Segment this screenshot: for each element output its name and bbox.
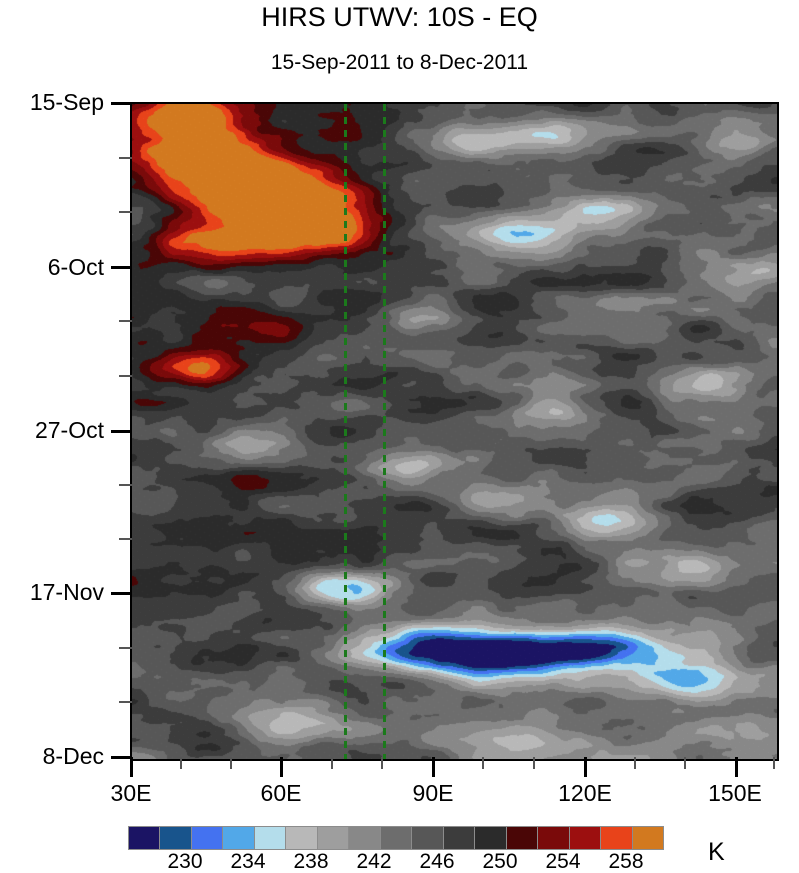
plot-area: [130, 102, 779, 761]
ytick-minor: [119, 538, 132, 540]
page-title: HIRS UTWV: 10S - EQ: [0, 0, 799, 34]
colorbar-swatch-8: [381, 827, 412, 849]
xtick-minor: [773, 757, 775, 769]
colorbar-swatch-11: [475, 827, 506, 849]
colorbar-swatch-15: [601, 827, 632, 849]
xtick-major: [432, 757, 435, 777]
chart-subtitle: 15-Sep-2011 to 8-Dec-2011: [0, 50, 799, 76]
ytick-label-27-oct: 27-Oct: [35, 419, 104, 442]
annotation-vline-80e: [383, 104, 386, 759]
xtick-major: [130, 757, 133, 777]
ytick-major: [111, 102, 132, 105]
colorbar-swatch-7: [349, 827, 380, 849]
ytick-label-15-sep: 15-Sep: [30, 91, 104, 114]
colorbar-swatch-0: [129, 827, 160, 849]
hovmoller-figure: HIRS UTWV: 10S - EQ 15-Sep-2011 to 8-Dec…: [0, 0, 799, 869]
colorbar-swatch-12: [507, 827, 538, 849]
xtick-major: [735, 757, 738, 777]
colorbar: [128, 826, 664, 850]
colorbar-swatch-2: [192, 827, 223, 849]
xtick-minor: [230, 757, 232, 769]
xtick-major: [280, 757, 283, 777]
ytick-major: [111, 266, 132, 269]
colorbar-swatch-13: [538, 827, 569, 849]
xtick-label-30e: 30E: [86, 782, 176, 805]
colorbar-swatch-5: [286, 827, 317, 849]
contour-field: [132, 104, 777, 759]
colorbar-swatch-10: [444, 827, 475, 849]
xtick-label-90e: 90E: [388, 782, 478, 805]
ytick-major: [111, 430, 132, 433]
colorbar-swatch-4: [255, 827, 286, 849]
ytick-label-6-oct: 6-Oct: [48, 256, 104, 279]
xtick-minor: [381, 757, 383, 769]
ytick-minor: [119, 647, 132, 649]
colorbar-swatch-6: [318, 827, 349, 849]
xtick-minor: [634, 757, 636, 769]
xtick-minor: [331, 757, 333, 769]
ytick-minor: [119, 375, 132, 377]
ytick-major: [111, 756, 132, 759]
ytick-minor: [119, 320, 132, 322]
colorbar-swatch-1: [160, 827, 191, 849]
xtick-minor: [684, 757, 686, 769]
xtick-label-120e: 120E: [540, 782, 630, 805]
xtick-major: [584, 757, 587, 777]
colorbar-swatch-3: [223, 827, 254, 849]
ytick-label-8-dec: 8-Dec: [43, 745, 104, 768]
xtick-label-150e: 150E: [690, 782, 780, 805]
ytick-minor: [119, 157, 132, 159]
colorbar-swatch-9: [412, 827, 443, 849]
xtick-minor: [482, 757, 484, 769]
colorbar-swatch-14: [570, 827, 601, 849]
ytick-major: [111, 592, 132, 595]
ytick-minor: [119, 701, 132, 703]
colorbar-unit-label: K: [708, 840, 725, 865]
ytick-minor: [119, 211, 132, 213]
annotation-vline-73e: [344, 104, 347, 759]
ytick-label-17-nov: 17-Nov: [30, 581, 104, 604]
ytick-minor: [119, 484, 132, 486]
xtick-minor: [533, 757, 535, 769]
colorbar-swatch-16: [633, 827, 663, 849]
xtick-label-60e: 60E: [236, 782, 326, 805]
xtick-minor: [180, 757, 182, 769]
